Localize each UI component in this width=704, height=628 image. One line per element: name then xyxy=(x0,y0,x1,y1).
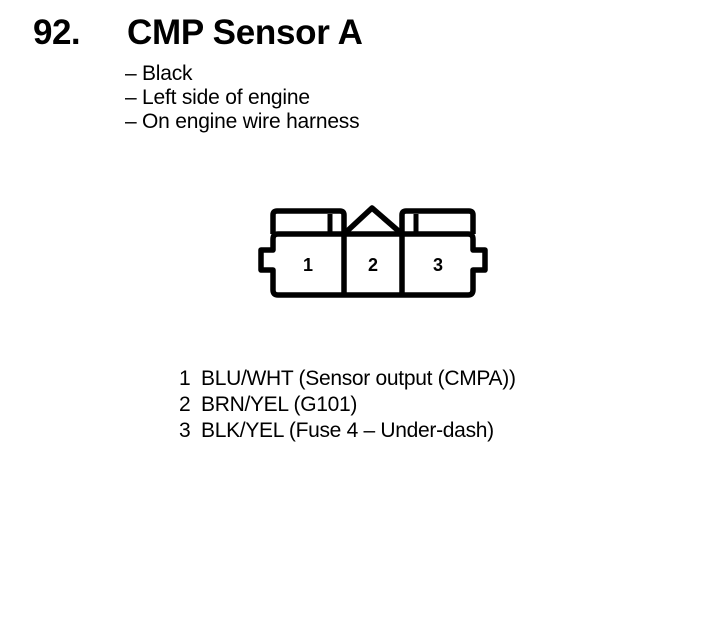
legend-circuit-description: BLU/WHT (Sensor output (CMPA)) xyxy=(201,367,516,390)
legend-row: 3BLK/YEL (Fuse 4 – Under-dash) xyxy=(179,418,679,444)
legend-circuit-description: BRN/YEL (G101) xyxy=(201,393,357,416)
pin-legend: 1BLU/WHT (Sensor output (CMPA)) 2BRN/YEL… xyxy=(179,366,679,444)
attribute-list: –Black –Left side of engine –On engine w… xyxy=(125,62,625,134)
center-keyway-peak-icon xyxy=(344,208,402,234)
dash-marker-icon: – xyxy=(125,110,142,134)
right-latch-tab-icon xyxy=(402,211,473,234)
item-number: 92. xyxy=(33,10,80,56)
page-title: CMP Sensor A xyxy=(127,10,363,56)
legend-pin-number: 2 xyxy=(179,392,201,418)
legend-pin-number: 3 xyxy=(179,418,201,444)
page-heading: 92. CMP Sensor A xyxy=(0,10,704,56)
attribute-label: Left side of engine xyxy=(142,86,310,109)
attribute-label: On engine wire harness xyxy=(142,110,359,133)
connector-diagram: 1 2 3 xyxy=(244,198,502,313)
attribute-item: –Left side of engine xyxy=(125,86,625,110)
attribute-label: Black xyxy=(142,62,192,85)
connector-svg: 1 2 3 xyxy=(244,198,502,313)
attribute-item: –Black xyxy=(125,62,625,86)
legend-circuit-description: BLK/YEL (Fuse 4 – Under-dash) xyxy=(201,419,494,442)
legend-pin-number: 1 xyxy=(179,366,201,392)
left-latch-tab-icon xyxy=(273,211,344,234)
pin-number-1: 1 xyxy=(303,255,313,275)
pin-number-2: 2 xyxy=(368,255,378,275)
legend-row: 1BLU/WHT (Sensor output (CMPA)) xyxy=(179,366,679,392)
attribute-item: –On engine wire harness xyxy=(125,110,625,134)
legend-row: 2BRN/YEL (G101) xyxy=(179,392,679,418)
dash-marker-icon: – xyxy=(125,86,142,110)
pin-number-3: 3 xyxy=(433,255,443,275)
dash-marker-icon: – xyxy=(125,62,142,86)
